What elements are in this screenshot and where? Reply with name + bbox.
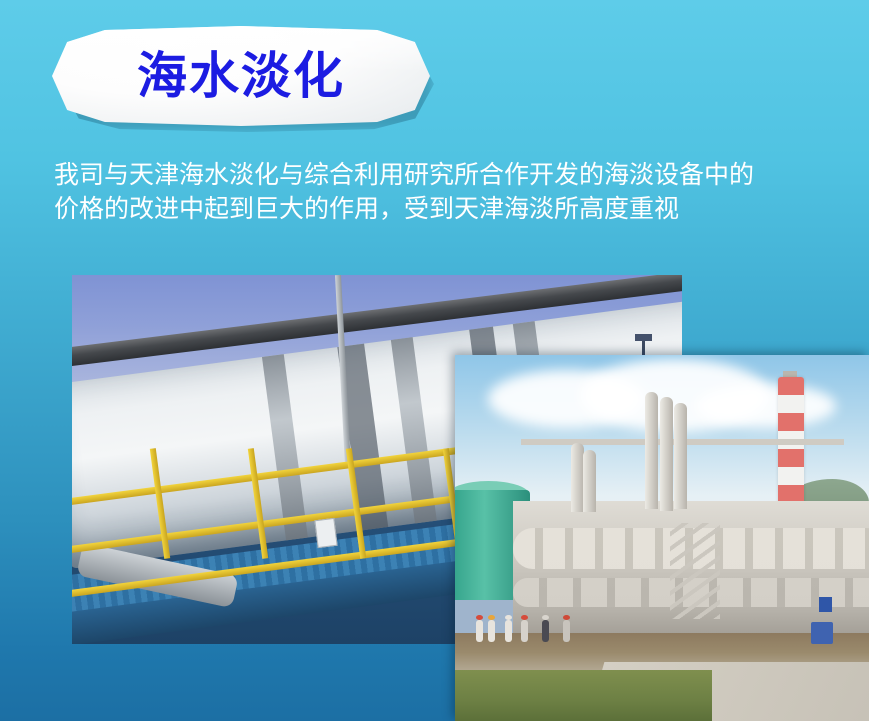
product-detail-page: 海水淡化 我司与天津海水淡化与综合利用研究所合作开发的海淡设备中的 价格的改进中… xyxy=(0,0,869,721)
photo-2-scene xyxy=(455,355,869,721)
column-3 xyxy=(645,392,658,509)
instrument-box xyxy=(314,517,337,547)
worker-6 xyxy=(563,620,570,642)
column-1 xyxy=(571,443,584,513)
column-5 xyxy=(674,403,687,509)
vessel-band-2 xyxy=(391,338,437,524)
grass-patch xyxy=(455,670,712,721)
vessel-band-1 xyxy=(262,355,308,541)
worker-3 xyxy=(505,620,512,642)
worker-1 xyxy=(476,620,483,642)
cloud-3 xyxy=(695,384,836,428)
worker-4 xyxy=(521,620,528,642)
section-title-banner: 海水淡化 xyxy=(52,26,434,132)
description-text: 我司与天津海水淡化与综合利用研究所合作开发的海淡设备中的 价格的改进中起到巨大的… xyxy=(54,158,869,226)
banner-badge: 海水淡化 xyxy=(52,26,430,126)
worker-5 xyxy=(542,620,549,642)
column-2 xyxy=(583,450,596,512)
access-staircase xyxy=(670,523,720,618)
column-4 xyxy=(660,397,673,510)
site-sign xyxy=(819,597,832,612)
desalination-plant-photo xyxy=(455,355,869,721)
blue-bin xyxy=(811,622,833,644)
page-title: 海水淡化 xyxy=(137,51,345,101)
description-line-2: 价格的改进中起到巨大的作用，受到天津海淡所高度重视 xyxy=(54,192,869,226)
description-line-1: 我司与天津海水淡化与综合利用研究所合作开发的海淡设备中的 xyxy=(54,158,869,192)
worker-2 xyxy=(488,620,495,642)
